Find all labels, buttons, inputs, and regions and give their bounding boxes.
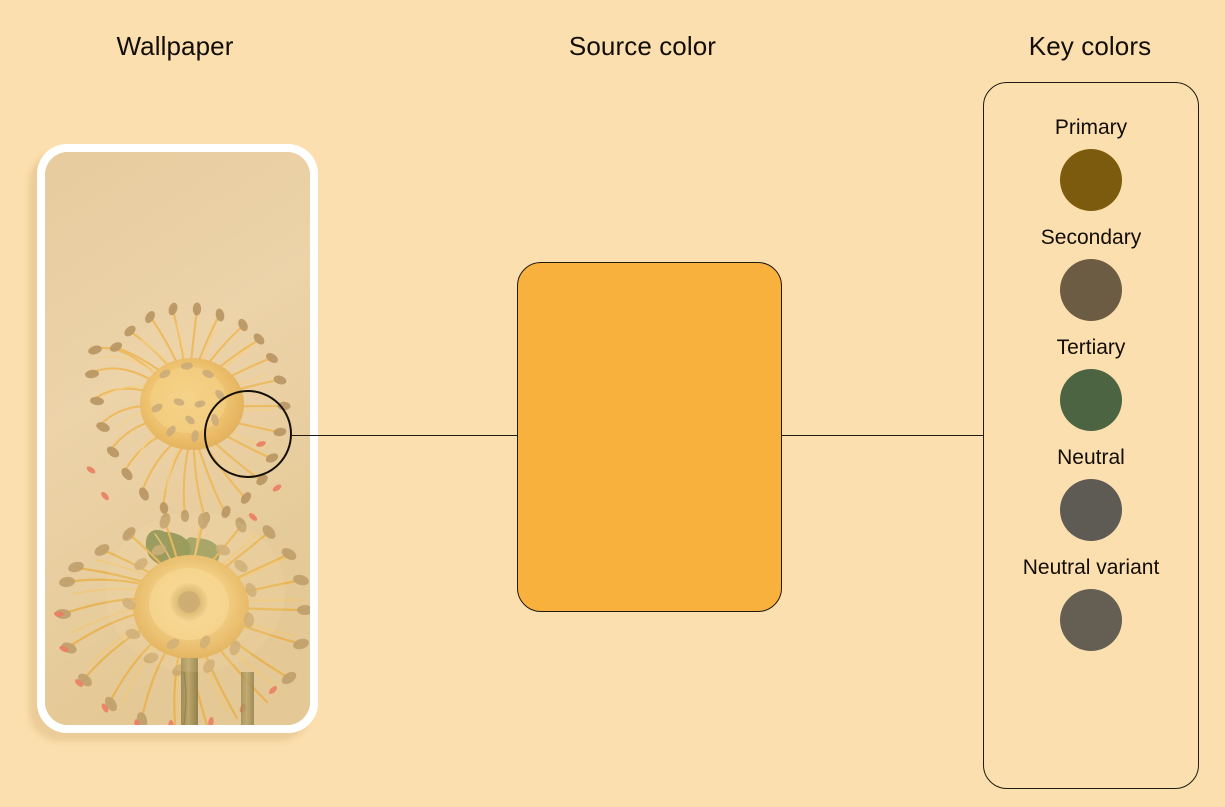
key-color-secondary: Secondary — [984, 225, 1198, 321]
key-color-neutral-variant: Neutral variant — [984, 555, 1198, 651]
key-colors-panel: Primary Secondary Tertiary Neutral Neutr… — [983, 82, 1199, 789]
wallpaper-to-source-connector — [291, 435, 518, 436]
key-color-swatch-neutral — [1060, 479, 1122, 541]
key-color-primary: Primary — [984, 115, 1198, 211]
key-color-label: Secondary — [1041, 225, 1141, 251]
key-color-swatch-secondary — [1060, 259, 1122, 321]
key-color-label: Neutral variant — [1023, 555, 1160, 581]
key-color-neutral: Neutral — [984, 445, 1198, 541]
source-color-swatch — [517, 262, 782, 612]
key-color-label: Primary — [1055, 115, 1127, 141]
key-colors-column-title: Key colors — [965, 31, 1215, 62]
wallpaper-column-title: Wallpaper — [0, 31, 350, 62]
key-color-swatch-tertiary — [1060, 369, 1122, 431]
key-color-label: Neutral — [1057, 445, 1125, 471]
color-extraction-diagram: Wallpaper Source color Key colors — [0, 0, 1225, 807]
key-color-swatch-neutral-variant — [1060, 589, 1122, 651]
key-color-label: Tertiary — [1057, 335, 1126, 361]
source-color-column-title: Source color — [470, 31, 815, 62]
sampled-pixel-region-icon — [204, 390, 292, 478]
key-color-swatch-primary — [1060, 149, 1122, 211]
key-color-tertiary: Tertiary — [984, 335, 1198, 431]
source-to-key-colors-connector — [781, 435, 984, 436]
